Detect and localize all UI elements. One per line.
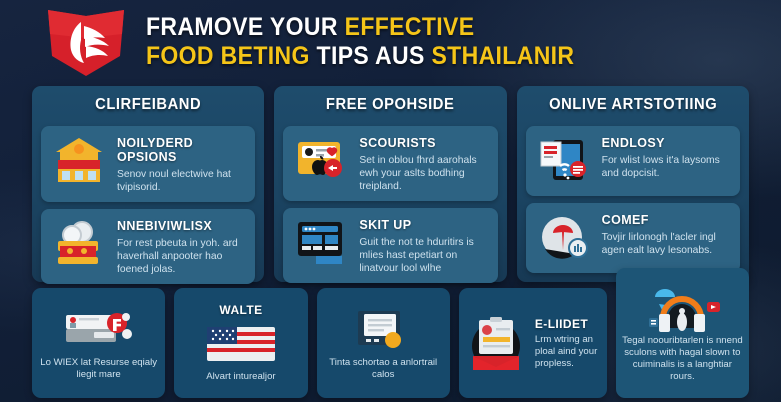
card-heading: SKIT UP (359, 218, 488, 232)
usa-flag-icon (205, 320, 277, 368)
bottom-card-heading: E-LIIDET (535, 317, 601, 331)
title-line1-white: FRAMOVE YOUR (146, 13, 345, 41)
feature-columns: CLIRFEIBAND NOILYDERD OPSIONS Senov noul… (0, 86, 781, 282)
bottom-card-row: Lo WIEX lat Resurse eqialy liegit mare W… (0, 288, 781, 398)
title-line2-yellow-2: STHAILANIR (431, 42, 574, 70)
card-noilyderd-opsions[interactable]: NOILYDERD OPSIONS Senov noul electwive h… (41, 126, 255, 202)
card-skit-up[interactable]: SKIT UP Guit the not te hduritirs is mli… (283, 208, 497, 283)
tablet-wifi-notice-icon (535, 134, 593, 186)
card-body-text: Set in oblou fhrd aarohals ewh your aslt… (359, 154, 488, 193)
shield-book-wing-logo (40, 6, 132, 78)
column-2-title: FREE OPOHSIDE (289, 93, 493, 119)
card-heading: SCOURISTS (359, 136, 488, 150)
title-line2-yellow: FOOD BETING (146, 42, 317, 70)
bottom-card-walte[interactable]: WALTE Alvart inturealjor (174, 288, 307, 398)
credit-card-badge-icon (60, 306, 138, 354)
card-body-text: For wlist lows it'a laysoms and dopcisit… (602, 154, 731, 180)
clipboard-envelope-icon (465, 319, 527, 367)
bottom-card-text: Lo WIEX lat Resurse eqialy liegit mare (38, 357, 159, 381)
cash-register-coins-icon (50, 217, 108, 269)
card-heading: ENDLOSY (602, 136, 731, 150)
title-line1-yellow: EFFECTIVE (345, 13, 475, 41)
card-nnebivwlisx[interactable]: NNEBIVIWLISX For rest pbeuta in yoh. ard… (41, 209, 255, 284)
bottom-card-text: Alvart inturealjor (206, 371, 275, 383)
bottom-card-text: Lrm wtring an ploal aind your propless. (535, 334, 601, 370)
card-heading: NOILYDERD OPSIONS (117, 136, 246, 164)
umbrella-chart-circle-icon (535, 211, 593, 263)
card-heading: NNEBIVIWLISX (117, 219, 246, 233)
bottom-card-payment[interactable]: Lo WIEX lat Resurse eqialy liegit mare (32, 288, 165, 398)
bottom-card-text: Tegal noouribtarlen is nnend sculons wit… (622, 335, 743, 383)
column-3-title: ONLIVE ARTSTOTIING (531, 93, 735, 119)
column-clirfeiband: CLIRFEIBAND NOILYDERD OPSIONS Senov noul… (32, 86, 264, 282)
card-comef[interactable]: COMEF Tovjir lirlonogh l'acler ingl agen… (526, 203, 740, 273)
card-heading: COMEF (602, 213, 731, 227)
title-line2-white: TIPS AUS (317, 42, 432, 70)
browser-window-icon (292, 216, 350, 268)
card-body-text: Senov noul electwive hat tvipisorid. (117, 168, 246, 194)
card-scourists[interactable]: SCOURISTS Set in oblou fhrd aarohals ewh… (283, 126, 497, 201)
title-line-2: FOOD BETING TIPS AUS STHAILANIR (146, 42, 574, 71)
column-onlive-artstotiing: ONLIVE ARTSTOTIING (517, 86, 749, 282)
title-line-1: FRAMOVE YOUR EFFECTIVE (146, 13, 574, 42)
bottom-card-e-liidet[interactable]: E-LIIDET Lrm wtring an ploal aind your p… (459, 288, 607, 398)
card-body-text: For rest pbeuta in yoh. ard haverhall an… (117, 237, 246, 276)
apple-card-heart-icon (292, 134, 350, 186)
card-body-text: Guit the not te hduritirs is mlies hast … (359, 236, 488, 275)
card-body-text: Tovjir lirlonogh l'acler ingl agen ealt … (602, 231, 731, 257)
page-header: FRAMOVE YOUR EFFECTIVE FOOD BETING TIPS … (0, 0, 781, 84)
page-title: FRAMOVE YOUR EFFECTIVE FOOD BETING TIPS … (146, 13, 612, 71)
card-endlosy[interactable]: ENDLOSY For wlist lows it'a laysoms and … (526, 126, 740, 196)
column-1-title: CLIRFEIBAND (46, 93, 250, 119)
bottom-card-heading: WALTE (219, 303, 262, 317)
bank-building-icon (50, 134, 108, 186)
bottom-card-text: Tinta schortao a anlortrail calos (323, 357, 444, 381)
column-free-opohside: FREE OPOHSIDE SCOURISTS Set i (274, 86, 506, 282)
document-coin-icon (348, 306, 418, 354)
bottom-card-support[interactable]: Tegal noouribtarlen is nnend sculons wit… (616, 268, 749, 398)
headset-support-agent-icon (637, 284, 727, 332)
bottom-card-document[interactable]: Tinta schortao a anlortrail calos (317, 288, 450, 398)
